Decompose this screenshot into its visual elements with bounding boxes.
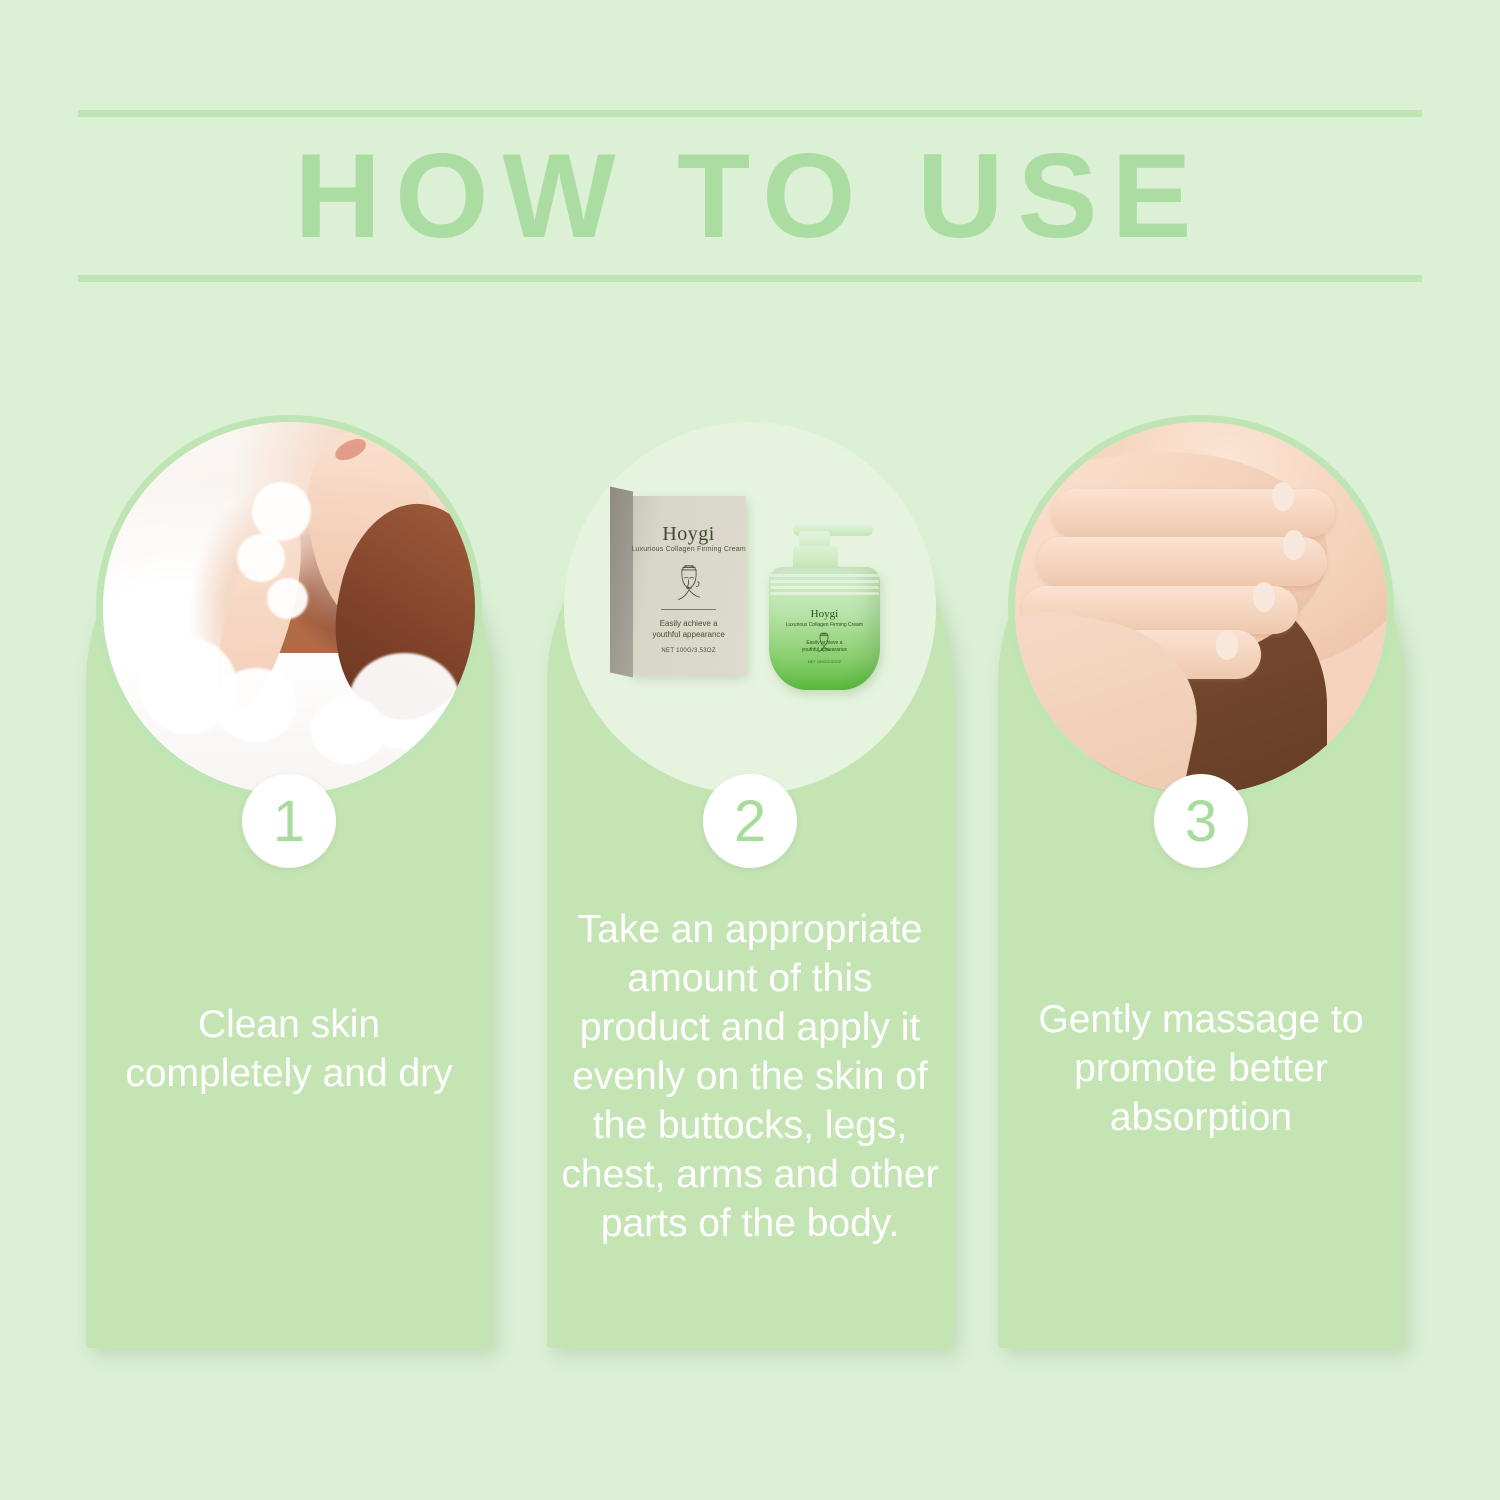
step-2-badge: 2 xyxy=(703,774,797,868)
product-box-net-weight: NET 100G/3.53OZ xyxy=(631,648,746,654)
step-2-caption: Take an appropriate amount of this produ… xyxy=(561,905,939,1248)
step-card-1: 1 Clean skin completely and dry xyxy=(86,480,492,1348)
step-card-3: 3 Gently massage to promote better absor… xyxy=(998,480,1404,1348)
step-3-badge: 3 xyxy=(1154,774,1248,868)
step-3-media xyxy=(1015,422,1387,794)
photo-hand-massaging-shoulder-icon xyxy=(1015,422,1387,794)
product-box-subtitle: Luxurious Collagen Firming Cream xyxy=(631,546,746,553)
step-1-caption: Clean skin completely and dry xyxy=(100,1000,478,1098)
photo-woman-bathing-with-foam-icon xyxy=(103,422,475,794)
steps-container: 1 Clean skin completely and dry Hoygi Lu… xyxy=(0,0,1500,1500)
product-pump-bottle: Hoygi Luxurious Collagen Firming Cream E… xyxy=(769,519,881,690)
product-box: Hoygi Luxurious Collagen Firming Cream xyxy=(631,496,746,675)
how-to-use-infographic: HOW TO USE 1 xyxy=(0,0,1500,1500)
step-card-2: Hoygi Luxurious Collagen Firming Cream xyxy=(547,480,953,1348)
step-2-media: Hoygi Luxurious Collagen Firming Cream xyxy=(564,422,936,794)
bottle-face-line-art-icon xyxy=(813,632,835,654)
product-box-tagline: Easily achieve a youthful appearance xyxy=(631,618,746,640)
product-box-brand: Hoygi xyxy=(631,523,746,546)
step-1-media xyxy=(103,422,475,794)
face-line-art-icon xyxy=(668,564,710,603)
step-3-caption: Gently massage to promote better absorpt… xyxy=(1012,995,1390,1142)
step-1-badge: 1 xyxy=(242,774,336,868)
product-illustration-icon: Hoygi Luxurious Collagen Firming Cream xyxy=(564,422,936,794)
